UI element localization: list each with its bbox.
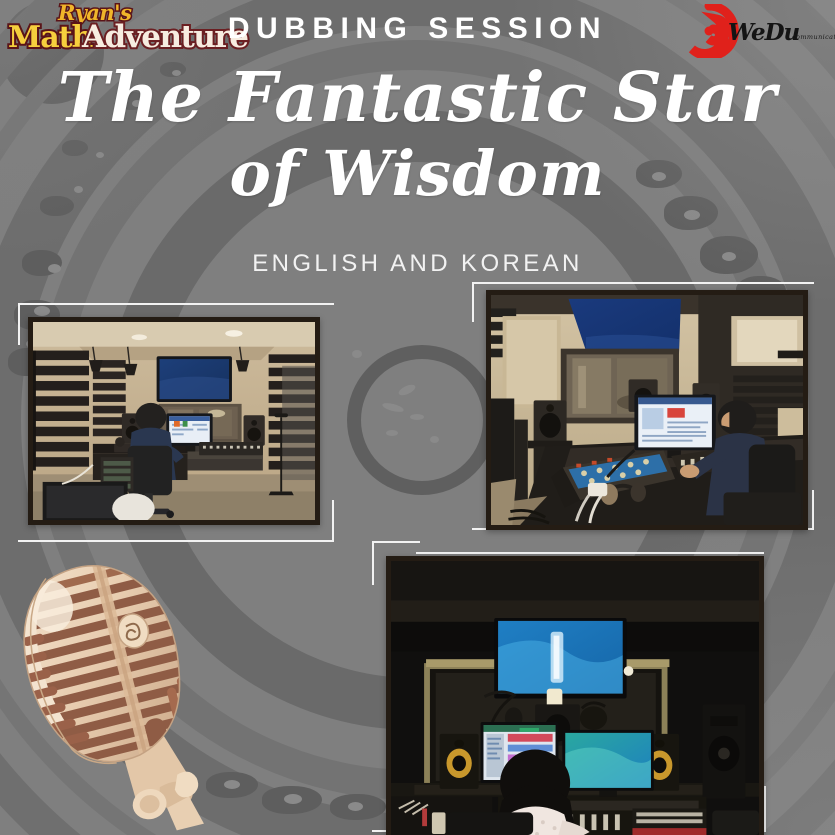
poster-title-line2: of Wisdom xyxy=(0,136,835,212)
poster-kicker: DUBBING SESSION xyxy=(0,12,835,46)
photo-bottom-studio-image xyxy=(391,561,759,835)
photo-bottom-studio xyxy=(386,556,764,835)
photo-left-frame-line-bottom xyxy=(18,540,290,542)
photo-right-studio-image xyxy=(491,295,803,525)
photo-left-studio-image xyxy=(33,322,315,520)
disc-ring xyxy=(347,345,497,495)
microphone-icon xyxy=(8,552,223,835)
poster-title: The Fantastic Star of Wisdom xyxy=(0,60,835,212)
photo-left-studio xyxy=(28,317,320,525)
photo-bottom-frame-line-top xyxy=(416,552,764,554)
poster-subtitle: ENGLISH AND KOREAN xyxy=(0,250,835,278)
photo-right-studio xyxy=(486,290,808,530)
photo-left-frame-line-top xyxy=(60,303,334,305)
retro-microphone-illustration xyxy=(8,552,223,835)
poster-title-line1: The Fantastic Star xyxy=(58,58,778,138)
poster-canvas: Ryan's Math Adventure WeDu communication… xyxy=(0,0,835,835)
photo-right-frame-line-top xyxy=(512,282,814,284)
